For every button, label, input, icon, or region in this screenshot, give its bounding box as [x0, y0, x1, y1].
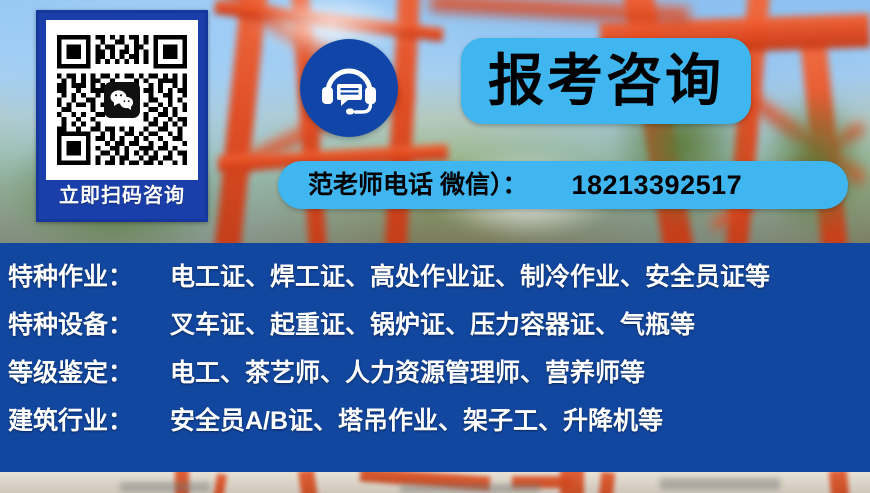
- crane-beam: [599, 472, 616, 493]
- promo-poster: 立即扫码咨询 报考咨询 范老师电话 微信）： 18213392517: [0, 0, 870, 493]
- service-row: 特种设备： 叉车证、起重证、锅炉证、压力容器证、气瓶等: [8, 313, 870, 361]
- headset-support-icon: [318, 59, 380, 117]
- support-badge[interactable]: [300, 39, 398, 137]
- ground-shadow: [400, 484, 540, 493]
- crane-beam: [213, 473, 227, 493]
- ground-shadow: [120, 482, 210, 492]
- ground-shadow: [660, 478, 780, 490]
- headline-text: 报考咨询: [488, 53, 724, 109]
- headline-pill[interactable]: 报考咨询: [461, 38, 751, 124]
- background-photo-bottom: [0, 472, 870, 493]
- service-items: 安全员A/B证、塔吊作业、架子工、升降机等: [170, 409, 663, 434]
- contact-label: 范老师电话 微信）：: [308, 173, 527, 198]
- service-items: 电工、茶艺师、人力资源管理师、营养师等: [170, 361, 645, 386]
- qr-code-panel[interactable]: 立即扫码咨询: [36, 10, 208, 222]
- service-items: 叉车证、起重证、锅炉证、压力容器证、气瓶等: [170, 313, 695, 338]
- contact-phone-number[interactable]: 18213392517: [571, 172, 742, 199]
- qr-caption: 立即扫码咨询: [59, 186, 185, 206]
- service-category-label: 特种设备：: [8, 313, 158, 338]
- contact-pill[interactable]: 范老师电话 微信）： 18213392517: [278, 161, 848, 209]
- qr-code-image[interactable]: [46, 20, 198, 180]
- wechat-glyph: [109, 89, 135, 111]
- service-row: 等级鉴定： 电工、茶艺师、人力资源管理师、营养师等: [8, 361, 870, 409]
- crane-beam: [560, 472, 584, 493]
- crane-beam: [298, 472, 318, 493]
- crane-beam: [829, 472, 849, 493]
- wechat-icon: [104, 82, 140, 118]
- services-panel: 特种作业： 电工证、焊工证、高处作业证、制冷作业、安全员证等 特种设备： 叉车证…: [0, 243, 870, 472]
- service-row: 建筑行业： 安全员A/B证、塔吊作业、架子工、升降机等: [8, 409, 870, 457]
- service-row: 特种作业： 电工证、焊工证、高处作业证、制冷作业、安全员证等: [8, 265, 870, 313]
- service-items: 电工证、焊工证、高处作业证、制冷作业、安全员证等: [170, 265, 770, 290]
- service-category-label: 等级鉴定：: [8, 361, 158, 386]
- service-category-label: 建筑行业：: [8, 409, 158, 434]
- service-category-label: 特种作业：: [8, 265, 158, 290]
